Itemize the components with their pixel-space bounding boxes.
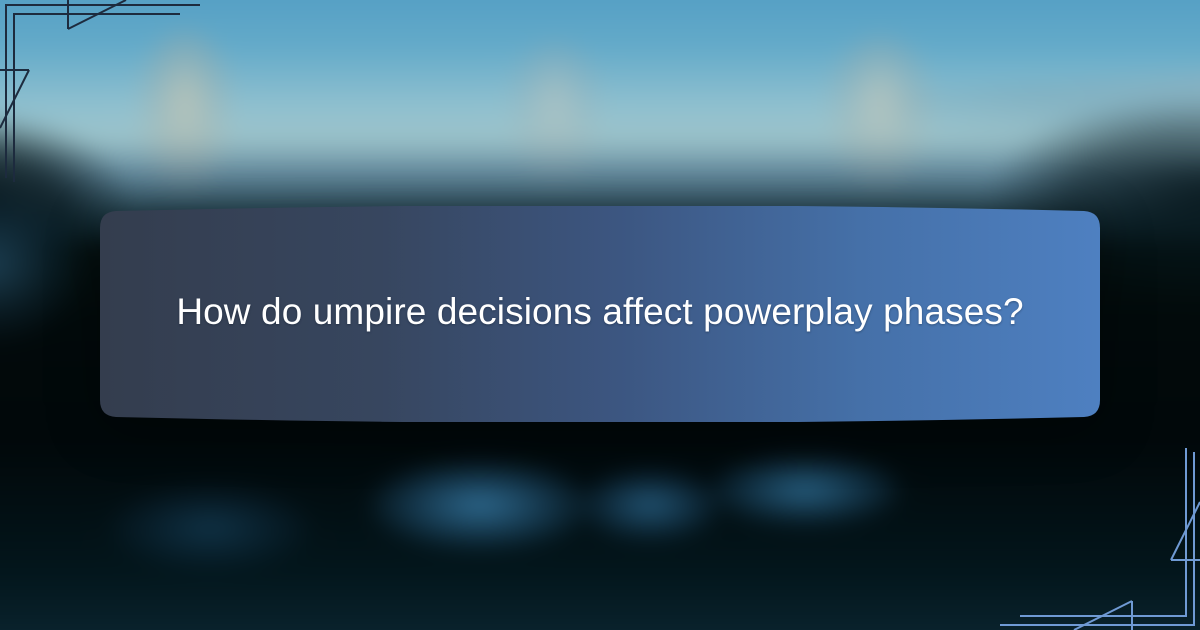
- card-headline: How do umpire decisions affect powerplay…: [160, 206, 1040, 422]
- corner-lines-top-left: [0, 0, 240, 220]
- deco-inner-bracket: [14, 14, 180, 182]
- deco-inner-bracket: [1020, 448, 1186, 616]
- deco-outer-bracket: [6, 5, 200, 178]
- poster-canvas: How do umpire decisions affect powerplay…: [0, 0, 1200, 630]
- deco-outer-bracket: [1000, 452, 1194, 625]
- deco-line-group: [1000, 448, 1200, 630]
- corner-lines-bottom-right: [960, 410, 1200, 630]
- headline-card: How do umpire decisions affect powerplay…: [100, 206, 1100, 422]
- deco-line-group: [0, 0, 200, 182]
